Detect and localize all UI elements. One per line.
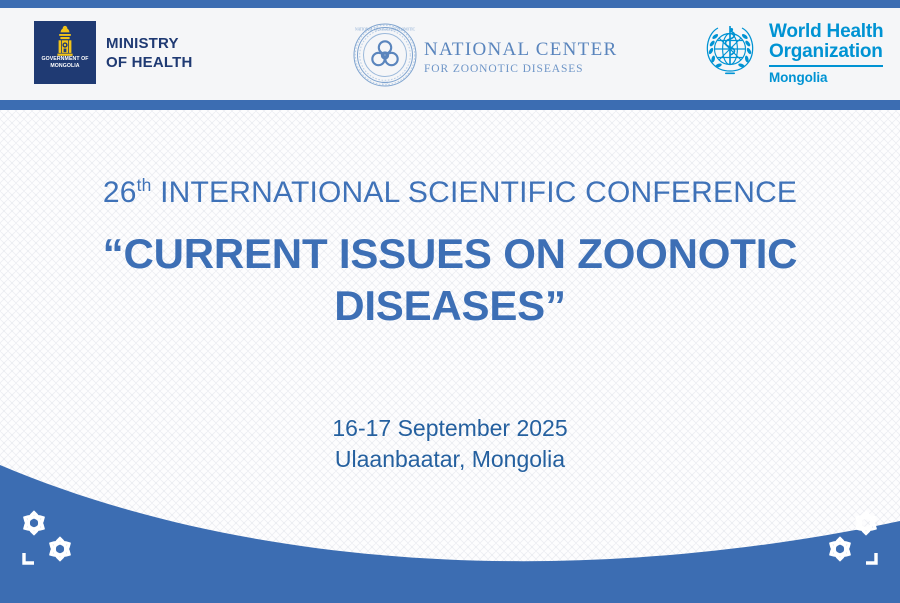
svg-text:1931: 1931 xyxy=(382,81,389,85)
nczd-name-line2: FOR ZOONOTIC DISEASES xyxy=(424,63,617,75)
celtic-triquetra-knot-ornament-left xyxy=(14,501,86,573)
ministry-of-health-name: MINISTRY OF HEALTH xyxy=(106,34,193,72)
who-country-label: Mongolia xyxy=(769,70,883,85)
who-name-line2: Organization xyxy=(769,42,883,62)
nczd-name: NATIONAL CENTER FOR ZOONOTIC DISEASES xyxy=(424,40,617,75)
emblem-caption: GOVERNMENT OF MONGOLIA xyxy=(41,56,88,70)
emblem-caption-line2: MONGOLIA xyxy=(50,63,79,69)
who-wordmark: World Health Organization Mongolia xyxy=(769,22,883,85)
page-title-line1: “CURRENT ISSUES ON ZOONOTIC xyxy=(60,228,840,280)
svg-text:NATIONAL CENTER FOR ZOONOTIC: NATIONAL CENTER FOR ZOONOTIC xyxy=(355,28,416,32)
conference-dates: 16-17 September 2025 xyxy=(0,413,900,444)
top-accent-bar xyxy=(0,0,900,8)
soyombo-symbol-icon xyxy=(34,25,96,59)
conference-line-text: INTERNATIONAL SCIENTIFIC CONFERENCE xyxy=(160,176,797,209)
celtic-triquetra-knot-ornament-right xyxy=(814,501,886,573)
biohazard-seal-icon: NATIONAL CENTER FOR ZOONOTIC 1931 xyxy=(352,22,418,93)
page-title-line2: DISEASES” xyxy=(60,280,840,332)
conference-number-line: 26th INTERNATIONAL SCIENTIFIC CONFERENCE xyxy=(0,176,900,210)
who-name-line1: World Health xyxy=(769,22,883,42)
header-divider-bar xyxy=(0,100,900,110)
ministry-name-line1: MINISTRY xyxy=(106,34,193,53)
ministry-of-health-logo: GOVERNMENT OF MONGOLIA MINISTRY OF HEALT… xyxy=(34,21,193,84)
who-logo: World Health Organization Mongolia xyxy=(700,21,883,86)
who-emblem-icon xyxy=(700,21,760,86)
conference-ordinal-suffix: th xyxy=(137,175,152,195)
who-divider-rule xyxy=(769,65,883,67)
wave-blue-shape xyxy=(0,465,900,603)
emblem-caption-line1: GOVERNMENT OF xyxy=(41,56,88,62)
page-title: “CURRENT ISSUES ON ZOONOTIC DISEASES” xyxy=(60,228,840,332)
conference-title-slide: GOVERNMENT OF MONGOLIA MINISTRY OF HEALT… xyxy=(0,0,900,603)
conference-number: 26 xyxy=(103,176,137,209)
mongolia-state-emblem-icon: GOVERNMENT OF MONGOLIA xyxy=(34,21,96,84)
bottom-wave-decoration xyxy=(0,443,900,603)
ministry-name-line2: OF HEALTH xyxy=(106,53,193,72)
nczd-name-line1: NATIONAL CENTER xyxy=(424,40,617,60)
national-center-zoonotic-diseases-logo: NATIONAL CENTER FOR ZOONOTIC 1931 NATION… xyxy=(352,22,617,93)
